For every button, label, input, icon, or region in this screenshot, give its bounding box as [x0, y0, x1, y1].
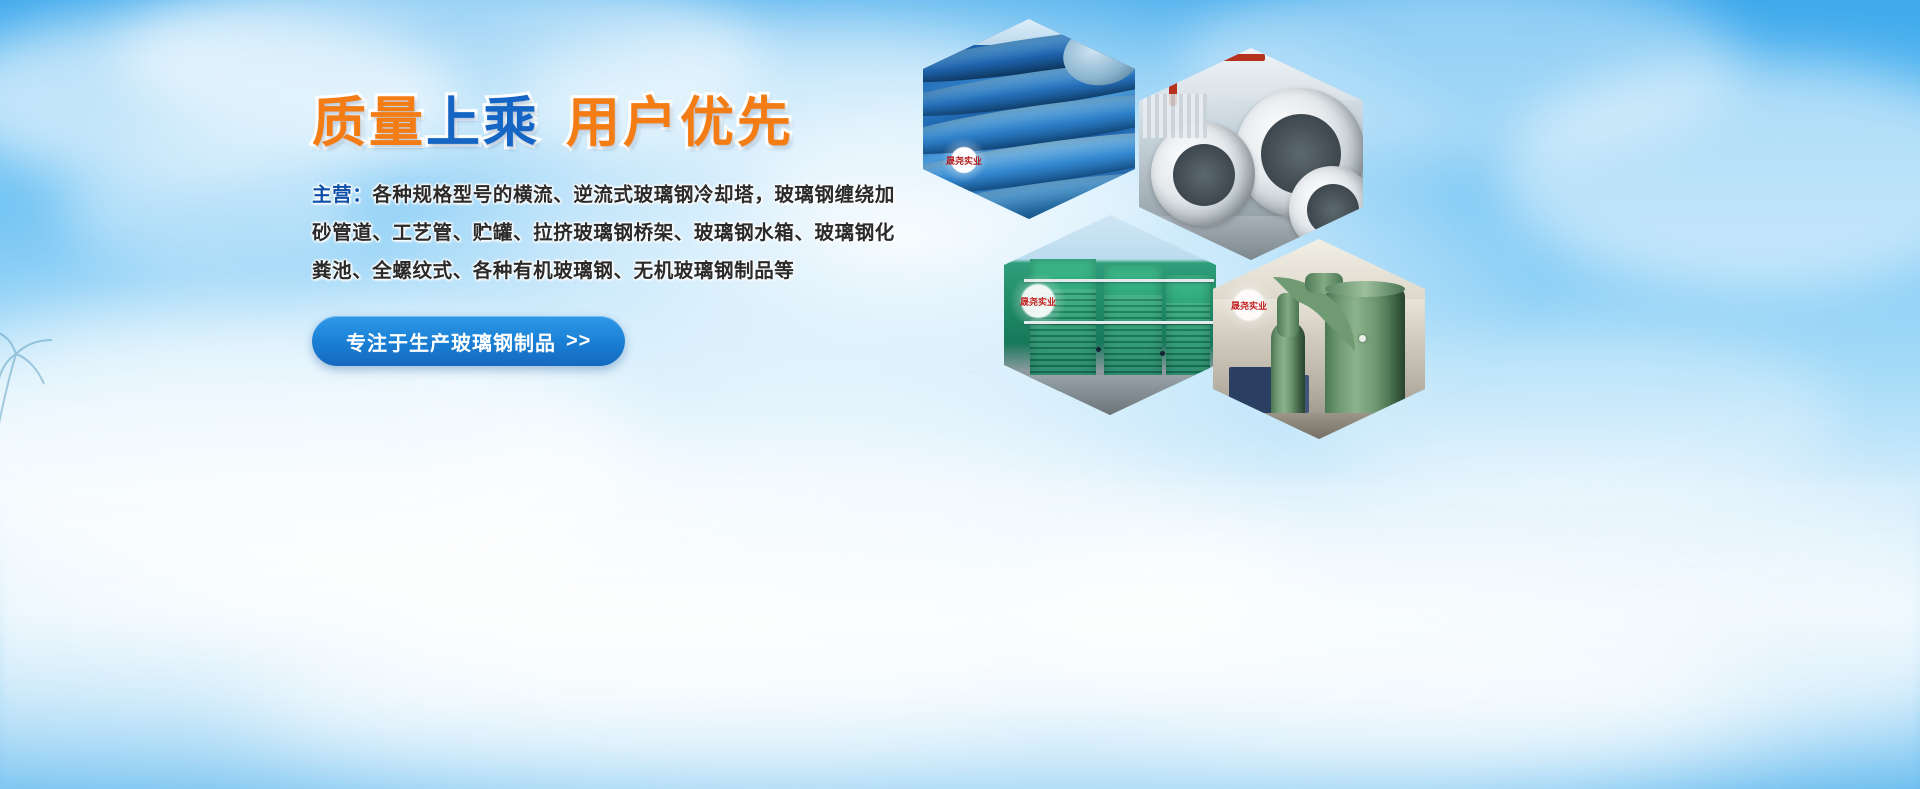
chevron-right-double-icon: >>: [566, 330, 591, 353]
description-line-3: 粪池、全螺纹式、各种有机玻璃钢、无机玻璃钢制品等: [312, 252, 912, 290]
banner-copy: 质量上乘用户优先 主营：各种规格型号的横流、逆流式玻璃钢冷却塔，玻璃钢缠绕加 砂…: [312, 96, 912, 366]
page-title: 质量上乘用户优先: [312, 96, 912, 150]
cta-label: 专注于生产玻璃钢制品: [346, 327, 556, 356]
focus-on-frp-products-button[interactable]: 专注于生产玻璃钢制品 >>: [312, 316, 625, 366]
description-line-1: 主营：各种规格型号的横流、逆流式玻璃钢冷却塔，玻璃钢缠绕加: [312, 176, 912, 214]
headline-part-1: 质量: [312, 96, 426, 150]
horizon-haze: [0, 469, 1920, 789]
headline-part-3: 用户优先: [566, 96, 794, 150]
description-line-2: 砂管道、工艺管、贮罐、拉挤玻璃钢桥架、玻璃钢水箱、玻璃钢化: [312, 214, 912, 252]
photo-white-frp-pipes: [1139, 48, 1363, 260]
product-description: 主营：各种规格型号的横流、逆流式玻璃钢冷却塔，玻璃钢缠绕加 砂管道、工艺管、贮罐…: [312, 176, 912, 290]
watermark-logo: 晟尧实业: [1010, 273, 1066, 329]
gallery-tile-white-frp-pipes[interactable]: [1139, 48, 1363, 260]
product-photo-gallery: 晟尧实业: [918, 12, 1438, 412]
gallery-tile-green-scrubber-tower[interactable]: 晟尧实业: [1213, 239, 1425, 439]
watermark-logo: 晟尧实业: [1223, 279, 1275, 331]
photo-green-cooling-towers: 晟尧实业: [1004, 215, 1216, 415]
headline-part-2: 上乘: [426, 96, 540, 150]
description-lead: 主营：: [312, 184, 372, 206]
palm-leaf-icon: [0, 330, 64, 440]
gallery-tile-green-cooling-towers[interactable]: 晟尧实业: [1004, 215, 1216, 415]
description-line-1-rest: 各种规格型号的横流、逆流式玻璃钢冷却塔，玻璃钢缠绕加: [372, 184, 895, 206]
photo-blue-frp-pipes: 晟尧实业: [923, 19, 1135, 219]
photo-green-scrubber-tower: 晟尧实业: [1213, 239, 1425, 439]
gallery-tile-blue-frp-pipes[interactable]: 晟尧实业: [923, 19, 1135, 219]
hero-banner: 质量上乘用户优先 主营：各种规格型号的横流、逆流式玻璃钢冷却塔，玻璃钢缠绕加 砂…: [0, 0, 1920, 789]
watermark-logo: 晟尧实业: [941, 137, 987, 183]
